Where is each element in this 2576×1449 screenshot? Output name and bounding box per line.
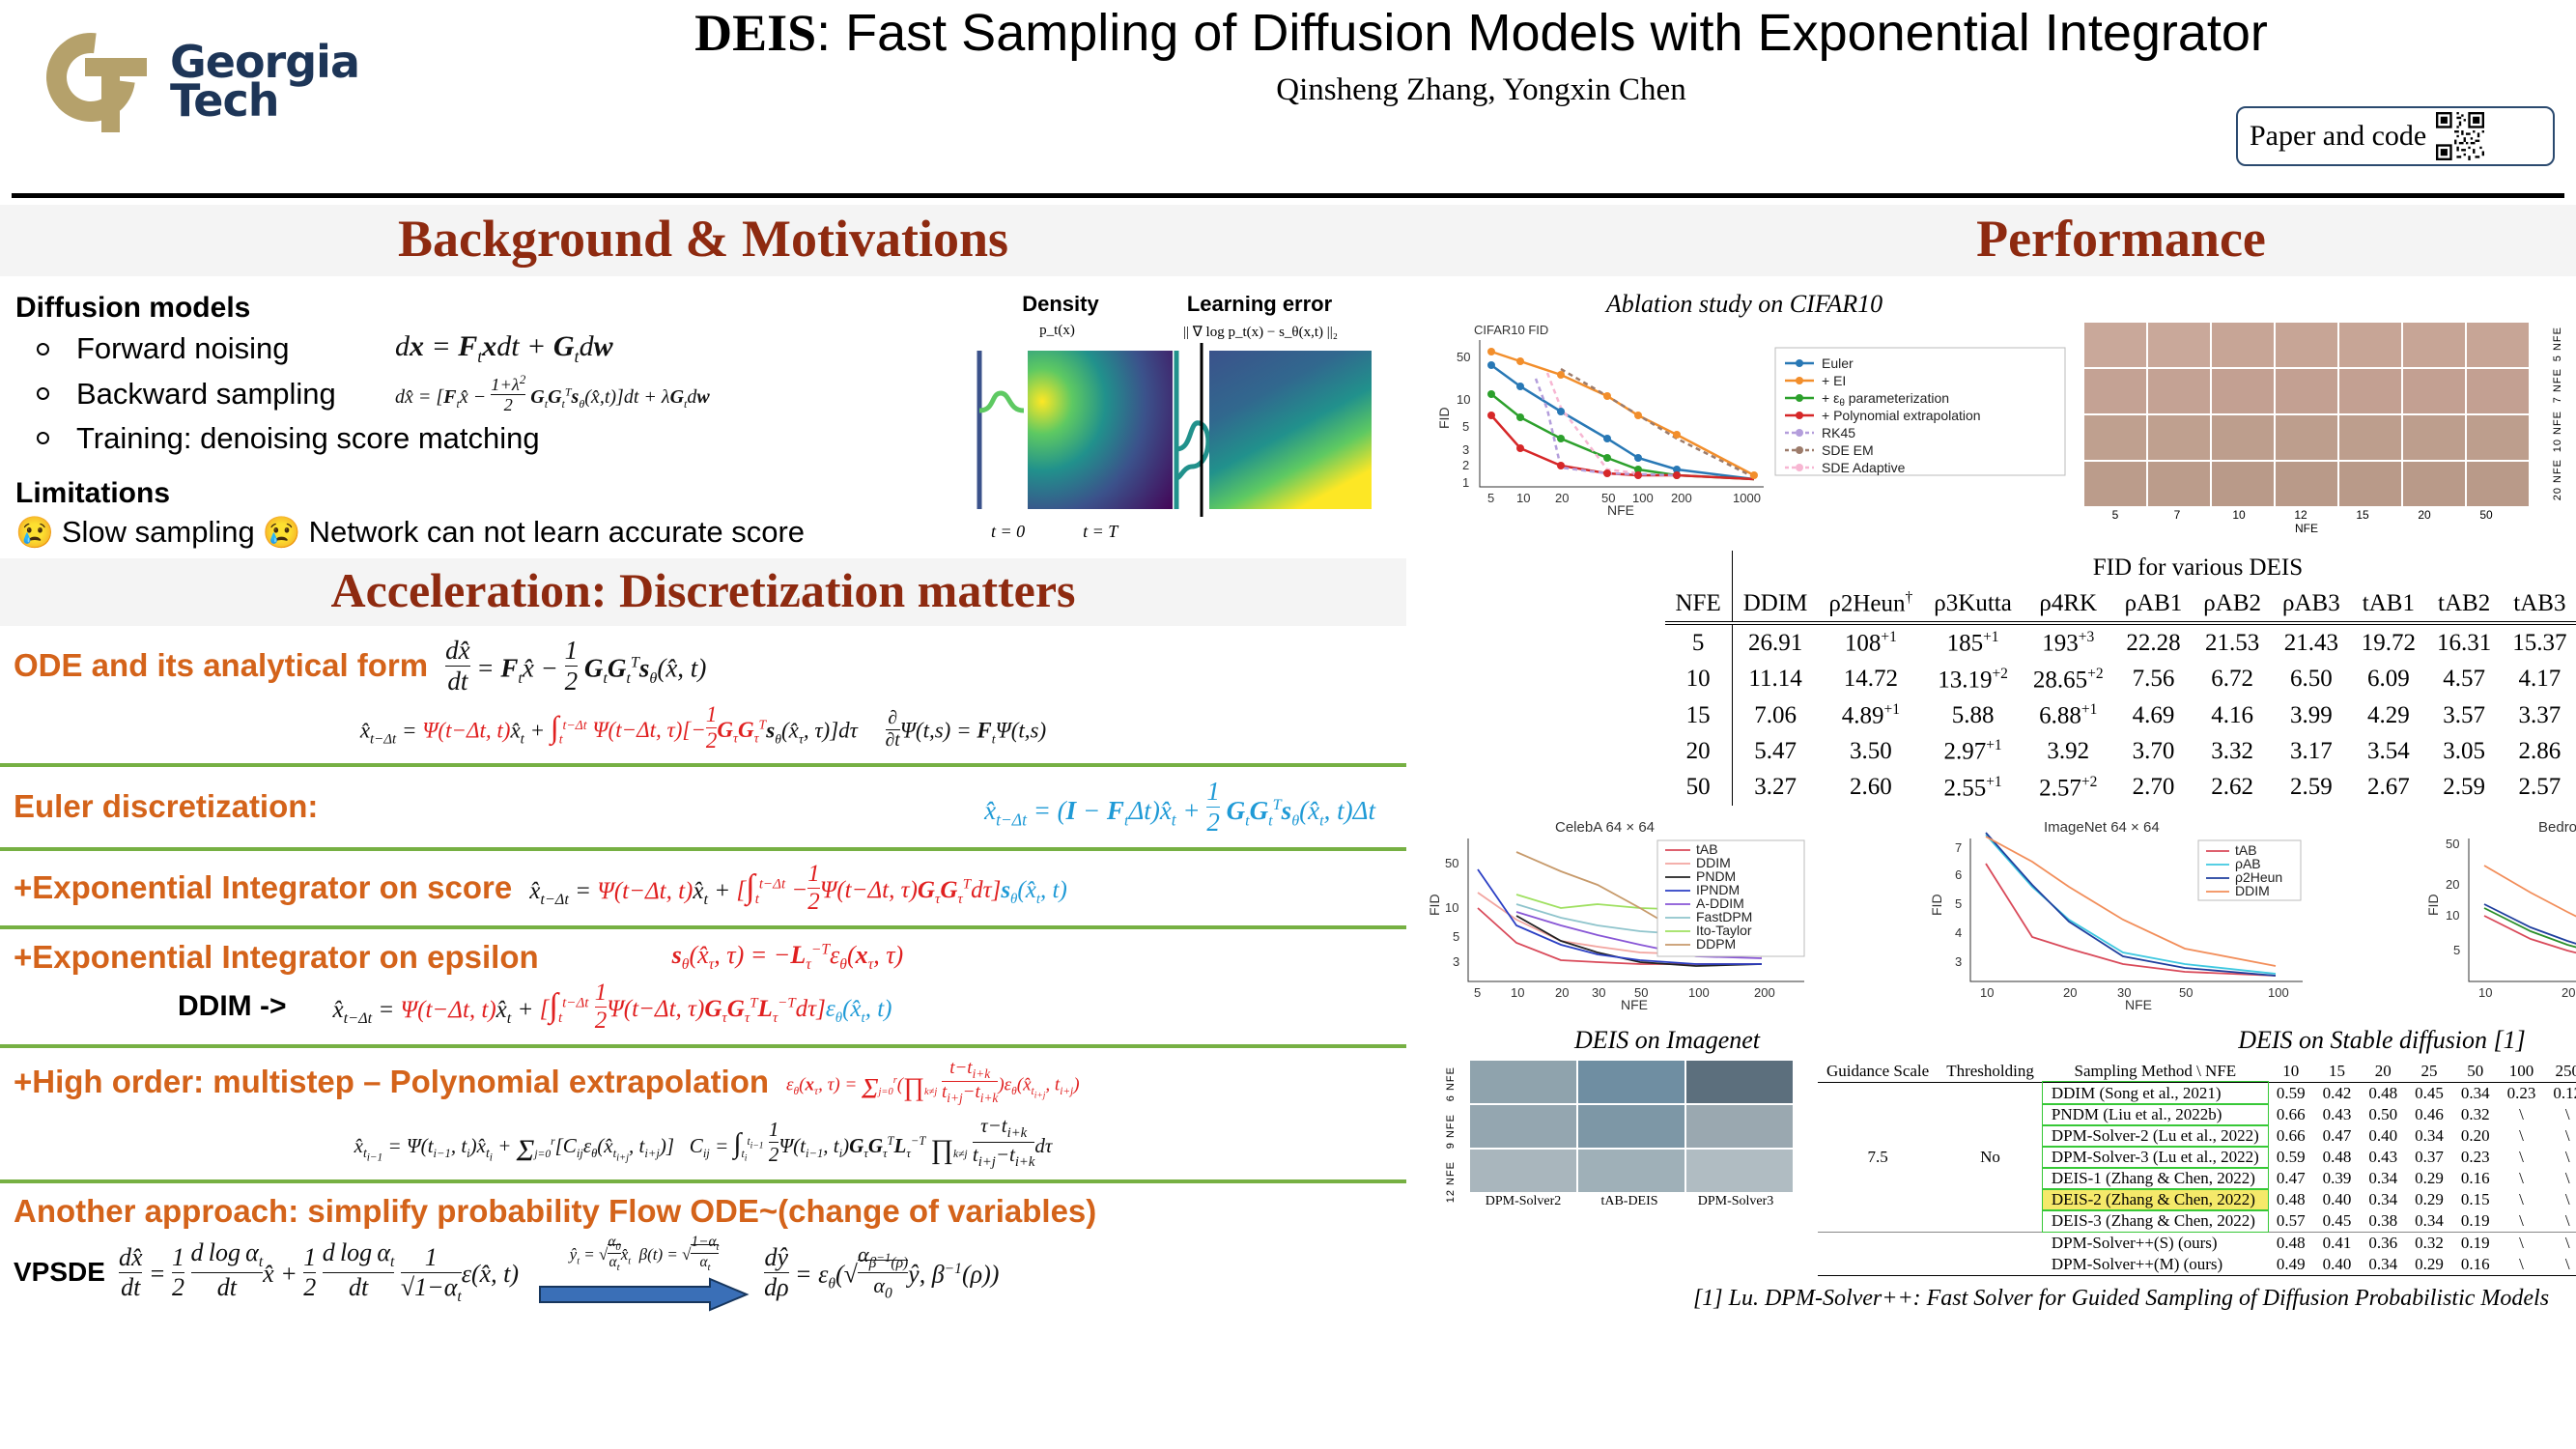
col-header: 20 xyxy=(2360,1061,2406,1082)
bullet-circle-icon xyxy=(37,432,49,444)
cell: 15.37 xyxy=(2502,623,2576,661)
caption-imagenet: DEIS on Imagenet xyxy=(1574,1026,1760,1054)
t-zero-label: t = 0 xyxy=(991,522,1025,542)
row-equation-mid: ŷt = √α0αtx̂t β(t) = √1−αtαt xyxy=(570,1234,720,1273)
cell: 7.06 xyxy=(1732,697,1818,733)
cell-value: 0.39 xyxy=(2314,1168,2361,1189)
right-column: Performance Ablation study on CIFAR10 Va… xyxy=(1406,205,2576,1449)
cell-value: 0.32 xyxy=(2406,1232,2452,1254)
cell-value: 0.15 xyxy=(2452,1189,2499,1210)
cell-thresholding: No xyxy=(1938,1082,2043,1232)
title-acronym: DEIS xyxy=(694,4,816,62)
cell-value: \ xyxy=(2499,1125,2545,1147)
col-header: 250 xyxy=(2544,1061,2576,1082)
imagenet-col-label: tAB-DEIS xyxy=(1576,1194,1683,1209)
table-header-row: Guidance Scale Thresholding Sampling Met… xyxy=(1818,1061,2576,1082)
cell: 3.37 xyxy=(2502,697,2576,733)
page-title: DEIS: Fast Sampling of Diffusion Models … xyxy=(406,6,2557,61)
cell: 2.67 xyxy=(2351,770,2426,806)
imagenet-row-label: 6 NFE xyxy=(1445,1066,1468,1101)
svg-text:5: 5 xyxy=(2453,943,2460,957)
title-block: DEIS: Fast Sampling of Diffusion Models … xyxy=(406,6,2557,108)
cell: 3.50 xyxy=(1818,733,1923,769)
row-equation-2: x̂t−Δt = Ψ(t−Δt, t)x̂t + ∫tt−Δt Ψ(t−Δt, … xyxy=(0,696,1406,763)
cell-method: DEIS-2 (Zhang & Chen, 2022) xyxy=(2043,1189,2268,1210)
svg-text:20: 20 xyxy=(2446,877,2459,892)
chart-cifar10-ablation: CIFAR10 FID 50 10 5 3 2 1 FID 5 10 20 50… xyxy=(1435,323,2073,516)
row-heading: +High order: multistep – Polynomial extr… xyxy=(14,1064,769,1100)
svg-text:4: 4 xyxy=(1955,925,1962,940)
svg-text:1: 1 xyxy=(1462,475,1469,490)
row-equation-2: x̂ti−1 = Ψ(ti−1, ti)x̂ti + Σj=0r[Cijεθ(x… xyxy=(0,1106,1406,1179)
nfe-tick: 5 xyxy=(2084,508,2146,522)
col-header: Thresholding xyxy=(1938,1061,2043,1082)
cell: 5.47 xyxy=(1732,733,1818,769)
cell: 2.97+1 xyxy=(1923,733,2023,769)
col-header: tAB2 xyxy=(2426,585,2502,621)
imagenet-row-label: 12 NFE xyxy=(1445,1161,1468,1203)
svg-text:100: 100 xyxy=(2268,985,2289,1000)
cell-method: DPM-Solver++(M) (ours) xyxy=(2043,1254,2268,1275)
cell-value: 0.59 xyxy=(2268,1082,2314,1104)
diffusion-models-list: Forward noising dx = Ftxdt + Gtdw Backwa… xyxy=(15,330,923,456)
fid-table-wrapper: FID for various DEIS NFE DDIM ρ2Heun† ρ3… xyxy=(1406,551,2576,806)
cell-value: 0.57 xyxy=(2268,1210,2314,1232)
t-T-label: t = T xyxy=(1083,522,1118,542)
cell-method: DEIS-1 (Zhang & Chen, 2022) xyxy=(2043,1168,2268,1189)
svg-text:1000: 1000 xyxy=(1733,491,1761,505)
variants-grid: 5 NFE 7 NFE 10 NFE 20 NFE DDIM ρ2Heun xyxy=(2552,323,2576,504)
svg-text:3: 3 xyxy=(1453,954,1459,969)
section-header-background: Background & Motivations xyxy=(0,205,1406,276)
svg-text:FID: FID xyxy=(1436,407,1452,429)
fid-table: FID for various DEIS NFE DDIM ρ2Heun† ρ3… xyxy=(1665,551,2576,806)
author-list: Qinsheng Zhang, Yongxin Chen xyxy=(406,72,2557,108)
qr-code-icon[interactable] xyxy=(2436,112,2484,160)
cell-value: 0.47 xyxy=(2314,1125,2361,1147)
svg-text:20: 20 xyxy=(1555,491,1569,505)
cell-method: DPM-Solver-3 (Lu et al., 2022) xyxy=(2043,1147,2268,1168)
bullet-equation: dx = Ftxdt + Gtdw xyxy=(395,330,613,367)
svg-text:SDE Adaptive: SDE Adaptive xyxy=(1822,460,1906,475)
cell-value: 0.32 xyxy=(2452,1104,2499,1125)
cell-value: 0.40 xyxy=(2360,1125,2406,1147)
table-row: DPM-Solver++(S) (ours)0.480.410.360.320.… xyxy=(1818,1232,2576,1254)
cell: 16.31 xyxy=(2426,623,2502,661)
poster-body: Background & Motivations Diffusion model… xyxy=(0,205,2576,1449)
row-ei-epsilon: +Exponential Integrator on epsilon sθ(x̂… xyxy=(0,929,1406,1044)
cell: 13.19+2 xyxy=(1923,662,2023,697)
sad-face-icon: 😢 xyxy=(15,514,54,551)
col-header: ρ2Heun† xyxy=(1818,585,1923,621)
svg-text:3: 3 xyxy=(1462,442,1469,457)
learning-error-label: Learning error xyxy=(1163,292,1356,317)
cell-value: 0.19 xyxy=(2452,1210,2499,1232)
cell-value: \ xyxy=(2544,1168,2576,1189)
svg-text:10: 10 xyxy=(2446,908,2459,923)
cell-nfe: 10 xyxy=(1665,662,1733,697)
cell-value: 0.20 xyxy=(2452,1125,2499,1147)
learning-error-equation: || ∇ log p_t(x) − s_θ(x,t) ||₂ xyxy=(1157,323,1365,341)
col-header: tAB1 xyxy=(2351,585,2426,621)
cell-value: 0.66 xyxy=(2268,1125,2314,1147)
cell-nfe: 5 xyxy=(1665,623,1733,661)
row-another-approach: Another approach: simplify probability F… xyxy=(0,1183,1406,1312)
list-item: Training: denoising score matching xyxy=(15,421,923,456)
cell: 6.09 xyxy=(2351,662,2426,697)
cell-value: 0.40 xyxy=(2314,1254,2361,1275)
cell: 3.70 xyxy=(2114,733,2194,769)
variants-row-label: 20 NFE xyxy=(2552,459,2575,500)
svg-text:2: 2 xyxy=(1462,458,1469,472)
caption-stable-diffusion: DEIS on Stable diffusion [1] xyxy=(2238,1026,2526,1054)
left-column: Background & Motivations Diffusion model… xyxy=(0,205,1406,1449)
cell-value: \ xyxy=(2499,1104,2545,1125)
bullet-circle-icon xyxy=(37,387,49,400)
col-header: tAB3 xyxy=(2502,585,2576,621)
density-label: Density xyxy=(974,292,1147,317)
cell: 3.99 xyxy=(2272,697,2351,733)
cell: 3.17 xyxy=(2272,733,2351,769)
cell-value: 0.23 xyxy=(2452,1147,2499,1168)
cell: 5.88 xyxy=(1923,697,2023,733)
svg-text:200: 200 xyxy=(1671,491,1692,505)
svg-text:NFE: NFE xyxy=(2125,997,2152,1012)
cell: 2.62 xyxy=(2193,770,2272,806)
svg-text:DDIM: DDIM xyxy=(2235,883,2270,898)
cell: 19.72 xyxy=(2351,623,2426,661)
table-row: 7.5NoDDIM (Song et al., 2021)0.590.420.4… xyxy=(1818,1082,2576,1104)
cell-value: \ xyxy=(2544,1232,2576,1254)
variants-row-label: 5 NFE xyxy=(2552,327,2575,361)
row-heading: +Exponential Integrator on epsilon xyxy=(14,939,539,976)
cell: 7.56 xyxy=(2114,662,2194,697)
cell-method: DDIM (Song et al., 2021) xyxy=(2043,1082,2268,1104)
cell-method: DPM-Solver-2 (Lu et al., 2022) xyxy=(2043,1125,2268,1147)
imagenet-col-label: DPM-Solver3 xyxy=(1683,1194,1789,1209)
cell: 28.65+2 xyxy=(2023,662,2114,697)
svg-text:NFE: NFE xyxy=(1621,997,1648,1012)
sad-face-icon: 😢 xyxy=(263,514,301,551)
cell: 11.14 xyxy=(1732,662,1818,697)
col-header: Sampling Method \ NFE xyxy=(2043,1061,2268,1082)
cell-value: 0.48 xyxy=(2360,1082,2406,1104)
cell-value: 0.36 xyxy=(2360,1232,2406,1254)
list-item: Forward noising dx = Ftxdt + Gtdw xyxy=(15,330,923,367)
footnote-reference: [1] Lu. DPM-Solver++: Fast Solver for Gu… xyxy=(1693,1286,2549,1311)
cell-value: \ xyxy=(2499,1147,2545,1168)
cell: 3.57 xyxy=(2426,697,2502,733)
chart-legend: Euler + EI + εθ parameterization + Polyn… xyxy=(1775,348,2065,475)
imagenet-sample-grid: 6 NFE 9 NFE 12 NFE DPM-Solver2 tAB-DEIS … xyxy=(1445,1061,1793,1209)
cell: 4.69 xyxy=(2114,697,2194,733)
cell-value: 0.41 xyxy=(2314,1232,2361,1254)
cell-value: \ xyxy=(2544,1104,2576,1125)
cell-value: 0.48 xyxy=(2268,1232,2314,1254)
cell: 21.43 xyxy=(2272,623,2351,661)
header-divider xyxy=(12,193,2564,198)
cell: 2.86 xyxy=(2502,733,2576,769)
cell-value: 0.23 xyxy=(2499,1082,2545,1104)
paper-and-code-box[interactable]: Paper and code xyxy=(2236,106,2555,166)
cell: 4.57 xyxy=(2426,662,2502,697)
section-header-acceleration: Acceleration: Discretization matters xyxy=(0,558,1406,626)
cell: 2.70 xyxy=(2114,770,2194,806)
variants-row-label: 10 NFE xyxy=(2552,411,2575,452)
svg-text:+ EI: + EI xyxy=(1822,373,1846,388)
diffusion-models-heading: Diffusion models xyxy=(15,292,923,325)
poster-header: Georgia Tech DEIS: Fast Sampling of Diff… xyxy=(0,0,2576,205)
svg-text:50: 50 xyxy=(1457,350,1470,364)
limitations-row: 😢 Slow sampling 😢 Network can not learn … xyxy=(15,514,923,551)
row-heading: +Exponential Integrator on score xyxy=(14,869,512,906)
cell-nfe: 50 xyxy=(1665,770,1733,806)
cell: 3.92 xyxy=(2023,733,2114,769)
cell: 2.55+1 xyxy=(1923,770,2023,806)
chart-bedroom-256: Bedroom 256 × 256 50 20 10 5 FID 10 20 3… xyxy=(2426,819,2576,1012)
svg-text:5: 5 xyxy=(1462,419,1469,434)
bullet-label: Training: denoising score matching xyxy=(76,421,540,456)
cell: 6.50 xyxy=(2272,662,2351,697)
svg-text:3: 3 xyxy=(1955,954,1962,969)
table-row: DPM-Solver++(M) (ours)0.490.400.340.290.… xyxy=(1818,1254,2576,1275)
svg-text:10: 10 xyxy=(1516,491,1530,505)
svg-text:SDE EM: SDE EM xyxy=(1822,442,1874,458)
cell: 6.88+1 xyxy=(2023,697,2114,733)
cell-value: \ xyxy=(2544,1189,2576,1210)
svg-text:CelebA 64 × 64: CelebA 64 × 64 xyxy=(1555,819,1655,836)
cell: 26.91 xyxy=(1732,623,1818,661)
cell-value: \ xyxy=(2544,1254,2576,1275)
cell: 3.54 xyxy=(2351,733,2426,769)
cell: 22.28 xyxy=(2114,623,2194,661)
svg-text:20: 20 xyxy=(2562,985,2575,1000)
cell-value: 0.29 xyxy=(2406,1254,2452,1275)
cell-value: 0.48 xyxy=(2268,1189,2314,1210)
cell-value: 0.45 xyxy=(2314,1210,2361,1232)
limitation-item-0: Slow sampling xyxy=(62,515,255,550)
nfe-tick: 15 xyxy=(2332,508,2393,522)
caption-ablation: Ablation study on CIFAR10 xyxy=(1606,290,1882,318)
bullet-equation: dx̂ = [Ftx̂ − 1+λ22 GtGtTsθ(x̂,t)]dt + λ… xyxy=(395,373,710,415)
chart-legend: tAB ρAB ρ2Heun DDIM xyxy=(2198,840,2301,900)
density-learning-error-figure: Density Learning error p_t(x) || ∇ log p… xyxy=(923,292,1406,551)
cell-value: 0.34 xyxy=(2406,1210,2452,1232)
svg-text:FID: FID xyxy=(2426,894,2441,916)
fid-charts-row: CelebA 64 × 64 50 10 5 3 FID 5 10 20 30 … xyxy=(1406,806,2576,1012)
col-header: 50 xyxy=(2452,1061,2499,1082)
cell-guidance-scale: 7.5 xyxy=(1818,1082,1938,1232)
limitation-item-1: Network can not learn accurate score xyxy=(309,515,805,550)
row-equation-1: dx̂dt = 12 d log αtdtx̂ + 12 d log αtdt … xyxy=(119,1238,519,1305)
svg-text:NFE: NFE xyxy=(1607,502,1634,516)
nfe-axis-label: NFE xyxy=(2084,522,2529,535)
cell-value: \ xyxy=(2544,1147,2576,1168)
svg-text:DDPM: DDPM xyxy=(1696,936,1736,952)
chart-imagenet-64: ImageNet 64 × 64 7 6 5 4 3 FID 10 20 30 … xyxy=(1928,819,2314,1012)
cell: 3.05 xyxy=(2426,733,2502,769)
cell: 2.59 xyxy=(2272,770,2351,806)
col-header: 100 xyxy=(2499,1061,2545,1082)
cell-value: 0.34 xyxy=(2360,1168,2406,1189)
cell-value: 0.42 xyxy=(2314,1082,2361,1104)
cell-value: 0.45 xyxy=(2406,1082,2452,1104)
row-equation-1: εθ(xτ, τ) = Σj=0r(∏k≠j t−ti+kti+j−ti+k)ε… xyxy=(786,1058,1080,1107)
cell-value: \ xyxy=(2499,1189,2545,1210)
cell: 4.17 xyxy=(2502,662,2576,697)
cell-value: 0.43 xyxy=(2314,1104,2361,1125)
cell: 21.53 xyxy=(2193,623,2272,661)
svg-text:5: 5 xyxy=(1474,985,1481,1000)
cell-value: 0.46 xyxy=(2406,1104,2452,1125)
cell: 2.57+2 xyxy=(2023,770,2114,806)
svg-text:Euler: Euler xyxy=(1822,355,1854,371)
row-euler: Euler discretization: x̂t−Δt = (I − FtΔt… xyxy=(0,767,1406,847)
limitations-heading: Limitations xyxy=(15,477,923,510)
cell-value: 0.29 xyxy=(2406,1189,2452,1210)
svg-text:RK45: RK45 xyxy=(1822,425,1855,440)
vpsde-label: VPSDE xyxy=(14,1257,105,1288)
section-header-performance: Performance xyxy=(1406,205,2576,276)
cell: 4.16 xyxy=(2193,697,2272,733)
fid-table-title: FID for various DEIS xyxy=(1818,551,2576,585)
nfe-tick: 10 xyxy=(2208,508,2270,522)
row-heading: ODE and its analytical form xyxy=(14,647,428,684)
svg-text:100: 100 xyxy=(1632,491,1654,505)
cell-value: 0.40 xyxy=(2314,1189,2361,1210)
cell-value: 0.34 xyxy=(2360,1254,2406,1275)
cell-value: 0.48 xyxy=(2314,1147,2361,1168)
col-header: ρAB2 xyxy=(2193,585,2272,621)
cifar-sample-grid: 57 1012 1520 50 NFE xyxy=(2084,323,2529,535)
cell: 3.27 xyxy=(1732,770,1818,806)
bullet-label: Forward noising xyxy=(76,331,395,366)
col-header: Guidance Scale xyxy=(1818,1061,1938,1082)
row-high-order: +High order: multistep – Polynomial extr… xyxy=(0,1048,1406,1179)
svg-text:50: 50 xyxy=(2446,837,2459,851)
stable-diffusion-table: Guidance Scale Thresholding Sampling Met… xyxy=(1818,1061,2576,1276)
row-equation-2: x̂t−Δt = Ψ(t−Δt, t)x̂t + [∫tt−Δt 12Ψ(t−Δ… xyxy=(333,980,892,1035)
svg-text:5: 5 xyxy=(1453,929,1459,944)
cell-value: 0.16 xyxy=(2452,1254,2499,1275)
svg-text:FID: FID xyxy=(1929,894,1944,916)
cell: 3.32 xyxy=(2193,733,2272,769)
cell-value: 0.12 xyxy=(2544,1082,2576,1104)
svg-text:Bedroom 256 × 256: Bedroom 256 × 256 xyxy=(2538,819,2576,836)
imagenet-col-label: DPM-Solver2 xyxy=(1470,1194,1576,1209)
bullet-circle-icon xyxy=(37,343,49,355)
col-header: DDIM xyxy=(1732,585,1818,621)
stable-diffusion-rows: 7.5NoDDIM (Song et al., 2021)0.590.420.4… xyxy=(1818,1082,2576,1275)
cell-value: 0.38 xyxy=(2360,1210,2406,1232)
georgia-tech-logo: Georgia Tech xyxy=(46,27,375,135)
cell: 4.29 xyxy=(2351,697,2426,733)
ddim-arrow-label: DDIM -> xyxy=(178,990,287,1023)
table-row: 10 11.14 14.72 13.19+2 28.65+2 7.56 6.72… xyxy=(1665,662,2576,697)
svg-text:FID: FID xyxy=(1430,894,1442,916)
cell-value: 0.37 xyxy=(2406,1147,2452,1168)
variants-row-label: 7 NFE xyxy=(2552,368,2575,403)
svg-text:10: 10 xyxy=(1511,985,1524,1000)
imagenet-row-label: 9 NFE xyxy=(1445,1114,1468,1149)
cell-value: 0.16 xyxy=(2452,1168,2499,1189)
cell: 4.89+1 xyxy=(1818,697,1923,733)
cell-value: \ xyxy=(2499,1232,2545,1254)
cell-value: \ xyxy=(2499,1254,2545,1275)
bullet-label: Backward sampling xyxy=(76,377,395,412)
cell-value: 0.34 xyxy=(2360,1189,2406,1210)
row-heading: Another approach: simplify probability F… xyxy=(14,1193,1406,1230)
row-ode-analytical: ODE and its analytical form dx̂dt = Ftx̂… xyxy=(0,626,1406,763)
cell-nfe: 15 xyxy=(1665,697,1733,733)
cell: 2.60 xyxy=(1818,770,1923,806)
cell-nfe: 20 xyxy=(1665,733,1733,769)
svg-text:20: 20 xyxy=(2063,985,2077,1000)
paper-code-label: Paper and code xyxy=(2250,120,2426,153)
svg-text:200: 200 xyxy=(1754,985,1775,1000)
cell-value: \ xyxy=(2499,1168,2545,1189)
col-header: 15 xyxy=(2314,1061,2361,1082)
cell-value: 0.49 xyxy=(2268,1254,2314,1275)
row-equation-1: dx̂dt = Ftx̂ − 12 GtGtTsθ(x̂, t) xyxy=(445,636,706,696)
cell-value: 0.43 xyxy=(2360,1147,2406,1168)
cell: 2.59 xyxy=(2426,770,2502,806)
svg-text:6: 6 xyxy=(1955,867,1962,882)
row-equation-1: x̂t−Δt = Ψ(t−Δt, t)x̂t + [∫tt−Δt −12Ψ(t−… xyxy=(529,861,1067,916)
row-ei-score: +Exponential Integrator on score x̂t−Δt … xyxy=(0,851,1406,925)
cell-value: \ xyxy=(2499,1210,2545,1232)
col-header: ρ3Kutta xyxy=(1923,585,2023,621)
row-equation-1: sθ(x̂τ, τ) = −Lτ−Tεθ(xτ, τ) xyxy=(672,941,904,974)
gt-monogram-icon xyxy=(46,31,162,132)
svg-text:ImageNet 64 × 64: ImageNet 64 × 64 xyxy=(2044,819,2160,836)
cell: 185+1 xyxy=(1923,623,2023,661)
nfe-tick: 12 xyxy=(2270,508,2332,522)
table-row: 20 5.47 3.50 2.97+1 3.92 3.70 3.32 3.17 … xyxy=(1665,733,2576,769)
nfe-tick: 20 xyxy=(2393,508,2455,522)
col-header: ρAB1 xyxy=(2114,585,2194,621)
cell-value: 0.29 xyxy=(2406,1168,2452,1189)
table-row: FID for various DEIS xyxy=(1665,551,2576,585)
cell-value: 0.66 xyxy=(2268,1104,2314,1125)
cell-value: \ xyxy=(2544,1210,2576,1232)
svg-text:10: 10 xyxy=(1445,900,1458,915)
col-header: 25 xyxy=(2406,1061,2452,1082)
list-item: Backward sampling dx̂ = [Ftx̂ − 1+λ22 Gt… xyxy=(15,373,923,415)
svg-text:CIFAR10 FID: CIFAR10 FID xyxy=(1474,323,1548,337)
cell-value: 0.34 xyxy=(2406,1125,2452,1147)
row-equation-3: dŷdρ = εθ(√αβ−1(ρ)α0ŷ, β−1(ρ)) xyxy=(764,1242,999,1302)
cell: 14.72 xyxy=(1818,662,1923,697)
svg-text:10: 10 xyxy=(2478,985,2492,1000)
col-header: NFE xyxy=(1665,585,1733,621)
cell: 193+3 xyxy=(2023,623,2114,661)
diffusion-heatmaps xyxy=(923,343,1387,517)
density-equation: p_t(x) xyxy=(966,323,1149,341)
svg-text:+ Polynomial extrapolation: + Polynomial extrapolation xyxy=(1822,408,1981,423)
nfe-tick: 50 xyxy=(2455,508,2517,522)
transform-arrow-icon xyxy=(538,1277,750,1312)
svg-text:5: 5 xyxy=(1487,491,1494,505)
cell-method: PNDM (Liu et al., 2022b) xyxy=(2043,1104,2268,1125)
svg-text:50: 50 xyxy=(2179,985,2193,1000)
cell-method: DPM-Solver++(S) (ours) xyxy=(2043,1232,2268,1254)
table-header-row: NFE DDIM ρ2Heun† ρ3Kutta ρ4RK ρAB1 ρAB2 … xyxy=(1665,585,2576,621)
cell-method: DEIS-3 (Zhang & Chen, 2022) xyxy=(2043,1210,2268,1232)
cell-value: 0.47 xyxy=(2268,1168,2314,1189)
col-header: 10 xyxy=(2268,1061,2314,1082)
chart-celeba-64: CelebA 64 × 64 50 10 5 3 FID 5 10 20 30 … xyxy=(1430,819,1816,1012)
